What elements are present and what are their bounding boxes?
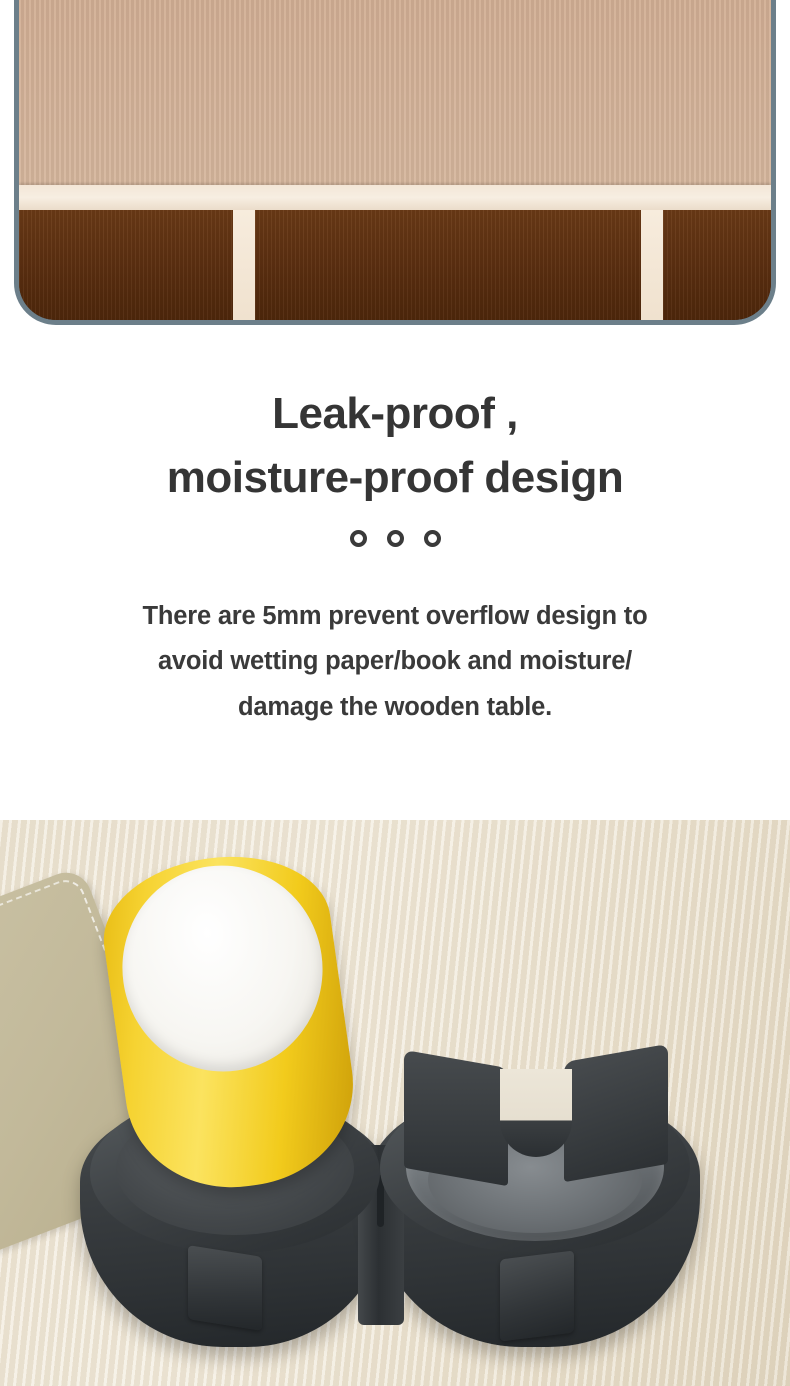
wall-baseboard bbox=[19, 185, 771, 213]
diagram-card: 9.3cm (3.6") 7.4cm bbox=[14, 0, 776, 325]
subcopy-line-1: There are 5mm prevent overflow design to bbox=[55, 594, 735, 639]
subcopy: There are 5mm prevent overflow design to… bbox=[55, 594, 735, 730]
holder-right-wall-left bbox=[404, 1050, 508, 1186]
three-dot-separator bbox=[0, 530, 790, 547]
subcopy-line-3: damage the wooden table. bbox=[55, 685, 735, 730]
holder-clip-left bbox=[188, 1245, 262, 1331]
holder-clip-right bbox=[500, 1250, 574, 1341]
holder-right-handle-slot bbox=[500, 1069, 572, 1157]
subcopy-line-2: avoid wetting paper/book and moisture/ bbox=[55, 639, 735, 684]
dual-cup-holder bbox=[70, 1035, 710, 1386]
desk-light-strip-left bbox=[233, 210, 255, 325]
mug-interior bbox=[109, 853, 336, 1085]
desk-light-strip-right bbox=[641, 210, 663, 325]
headline-line-1: Leak-proof , bbox=[0, 382, 790, 446]
holder-right-wall-right bbox=[564, 1044, 668, 1182]
separator-dot-2 bbox=[387, 530, 404, 547]
headline: Leak-proof , moisture-proof design bbox=[0, 382, 790, 510]
product-photo: 5mm bbox=[0, 820, 790, 1386]
separator-dot-1 bbox=[350, 530, 367, 547]
headline-line-2: moisture-proof design bbox=[0, 446, 790, 510]
wall-backdrop bbox=[19, 0, 771, 207]
separator-dot-3 bbox=[424, 530, 441, 547]
